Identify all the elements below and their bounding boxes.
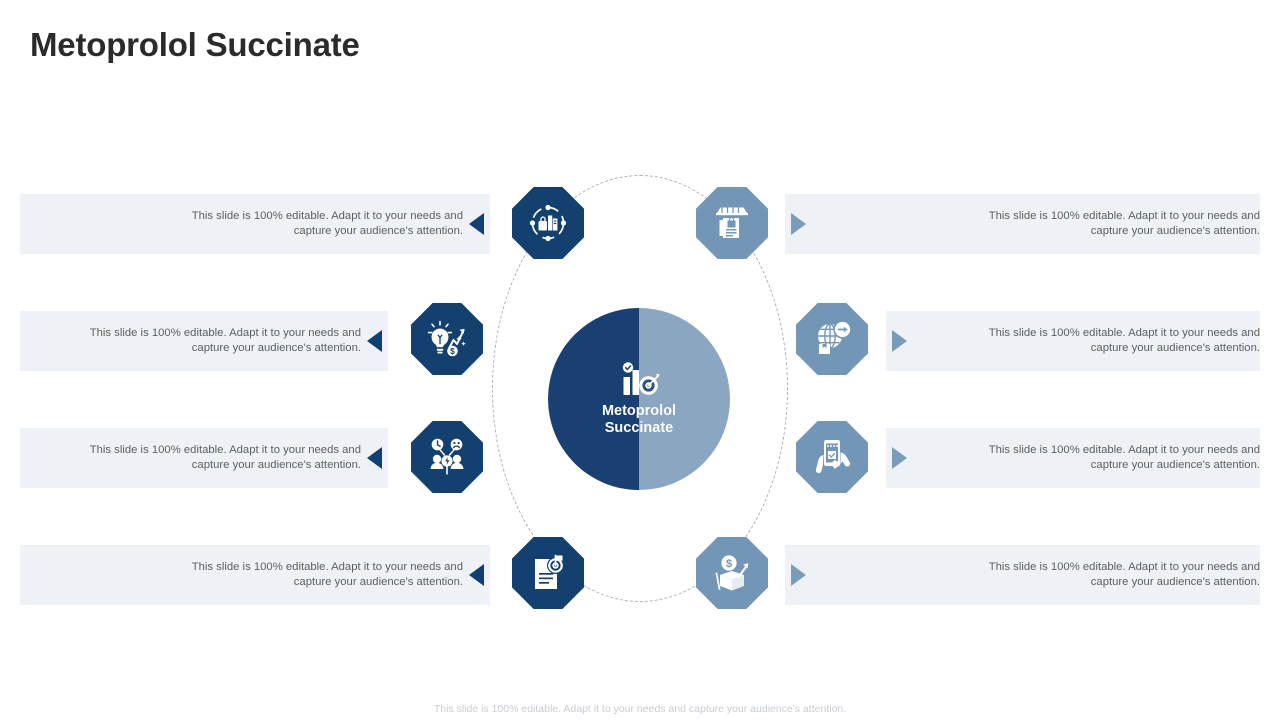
arrow-left-icon-4 <box>469 564 484 586</box>
text-band-2: This slide is 100% editable. Adapt it to… <box>20 311 388 371</box>
text-band-4: This slide is 100% editable. Adapt it to… <box>20 545 490 605</box>
band-text-4: This slide is 100% editable. Adapt it to… <box>192 560 469 591</box>
band-text-6: This slide is 100% editable. Adapt it to… <box>907 326 1260 357</box>
arrow-left-icon-1 <box>469 213 484 235</box>
center-hub[interactable]: Metoprolol Succinate <box>548 308 730 490</box>
svg-text:$: $ <box>726 558 732 570</box>
text-band-8: This slide is 100% editable. Adapt it to… <box>785 545 1260 605</box>
globe-arrow-box-icon <box>810 317 854 361</box>
bar-chart-target-icon <box>616 361 662 401</box>
band-text-3: This slide is 100% editable. Adapt it to… <box>90 443 367 474</box>
page-title: Metoprolol Succinate <box>30 26 360 64</box>
band-text-7: This slide is 100% editable. Adapt it to… <box>907 443 1260 474</box>
products-bags-target-icon <box>526 201 570 245</box>
center-hub-label: Metoprolol Succinate <box>602 403 676 437</box>
node-2-lightbulb-dollar-growth[interactable]: $ <box>411 303 483 375</box>
band-text-2: This slide is 100% editable. Adapt it to… <box>90 326 367 357</box>
text-band-7: This slide is 100% editable. Adapt it to… <box>886 428 1260 488</box>
node-7-hands-mobile-phone[interactable] <box>796 421 868 493</box>
arrow-right-icon-7 <box>892 447 907 469</box>
document-target-flag-icon <box>526 551 570 595</box>
slide-canvas: Metoprolol Succinate This slide is 100% … <box>0 0 1280 720</box>
band-text-5: This slide is 100% editable. Adapt it to… <box>806 209 1260 240</box>
arrow-left-icon-2 <box>367 330 382 352</box>
band-text-8: This slide is 100% editable. Adapt it to… <box>806 560 1260 591</box>
band-text-1: This slide is 100% editable. Adapt it to… <box>192 209 469 240</box>
lightbulb-dollar-growth-icon: $ <box>425 317 469 361</box>
arrow-right-icon-8 <box>791 564 806 586</box>
hands-mobile-phone-icon <box>810 435 854 479</box>
node-6-globe-arrow-box[interactable] <box>796 303 868 375</box>
storefront-document-icon <box>710 201 754 245</box>
arrow-left-icon-3 <box>367 447 382 469</box>
footer-note: This slide is 100% editable. Adapt it to… <box>0 703 1280 715</box>
node-3-people-network-feedback[interactable] <box>411 421 483 493</box>
text-band-5: This slide is 100% editable. Adapt it to… <box>785 194 1260 254</box>
svg-text:$: $ <box>450 346 455 356</box>
text-band-6: This slide is 100% editable. Adapt it to… <box>886 311 1260 371</box>
text-band-3: This slide is 100% editable. Adapt it to… <box>20 428 388 488</box>
text-band-1: This slide is 100% editable. Adapt it to… <box>20 194 490 254</box>
arrow-right-icon-5 <box>791 213 806 235</box>
box-dollar-growth-icon: $ <box>710 551 754 595</box>
people-network-feedback-icon <box>425 435 469 479</box>
arrow-right-icon-6 <box>892 330 907 352</box>
